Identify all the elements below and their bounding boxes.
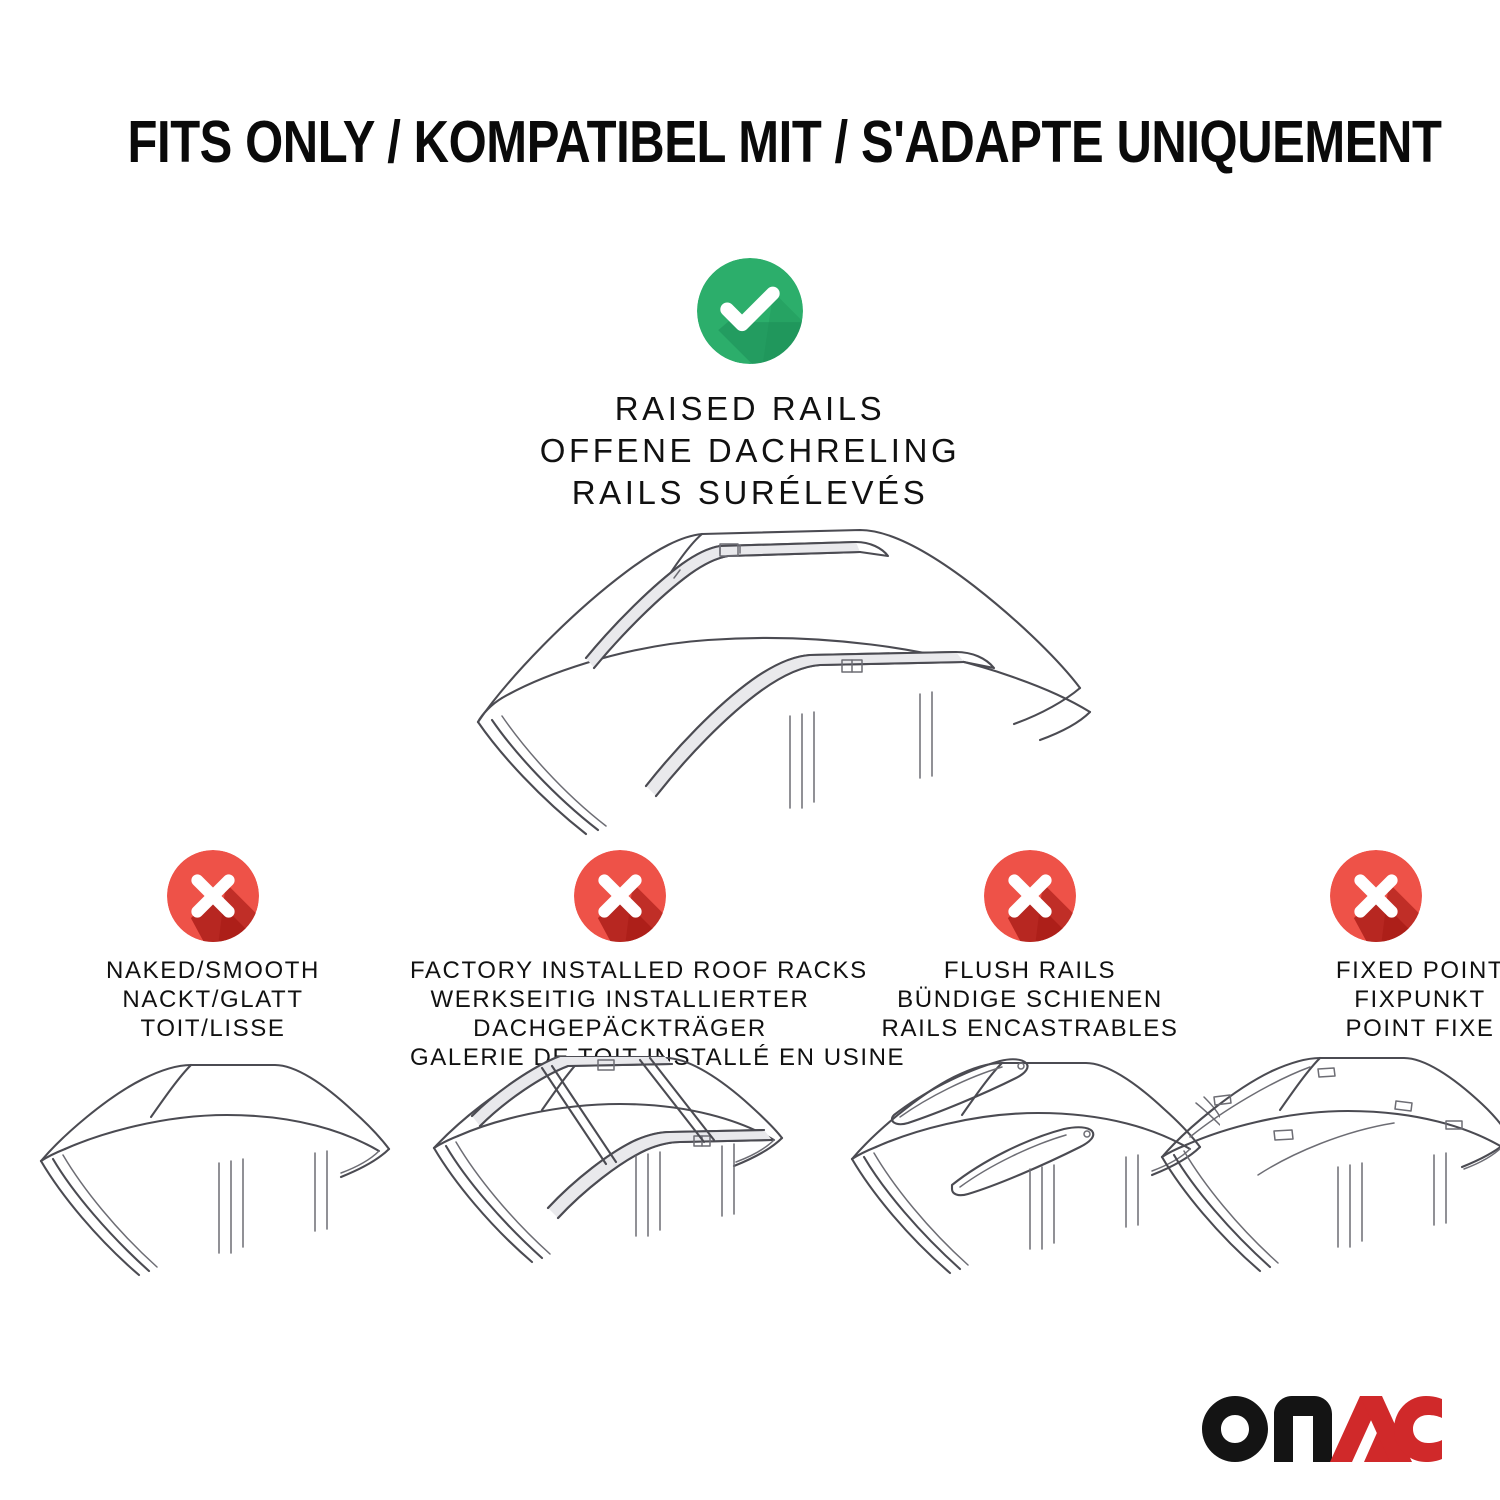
logo-letter-m (1274, 1396, 1332, 1462)
car-roof-factory-roof-rack-illustration (410, 1056, 830, 1306)
incompatible-4-line-1: FIXED POINT (1330, 956, 1500, 985)
incompatible-2-line-3: DACHGEPÄCKTRÄGER (410, 1014, 830, 1043)
incompatible-2-line-1: FACTORY INSTALLED ROOF RACKS (410, 956, 830, 985)
compatible-section: RAISED RAILS OFFENE DACHRELING RAILS SUR… (0, 258, 1500, 514)
incompatible-item-factory-roof-rack: FACTORY INSTALLED ROOF RACKS WERKSEITIG … (410, 850, 830, 1311)
incompatible-caption: NAKED/SMOOTH NACKT/GLATT TOIT/LISSE (23, 956, 403, 1043)
cross-circle-icon (1330, 850, 1422, 942)
page-title: FITS ONLY / KOMPATIBEL MIT / S'ADAPTE UN… (128, 108, 1373, 176)
incompatible-caption: FACTORY INSTALLED ROOF RACKS WERKSEITIG … (410, 956, 830, 1072)
check-circle-icon (697, 258, 803, 364)
incompatible-1-line-3: TOIT/LISSE (23, 1014, 403, 1043)
incompatible-caption: FIXED POINT FIXPUNKT POINT FIXE (1330, 956, 1500, 1043)
incompatible-4-line-3: POINT FIXE (1330, 1014, 1500, 1043)
omac-logo-mark (1202, 1396, 1442, 1462)
car-roof-naked-smooth-illustration (23, 1053, 403, 1303)
omac-logo (1202, 1396, 1442, 1462)
car-roof-raised-rails-illustration (390, 508, 1110, 838)
incompatible-1-line-2: NACKT/GLATT (23, 985, 403, 1014)
incompatible-item-naked-smooth: NAKED/SMOOTH NACKT/GLATT TOIT/LISSE (23, 850, 403, 1308)
car-roof-fixed-point-illustration (1150, 1053, 1500, 1303)
cross-circle-icon (167, 850, 259, 942)
incompatible-1-line-1: NAKED/SMOOTH (23, 956, 403, 985)
compatibility-infographic: FITS ONLY / KOMPATIBEL MIT / S'ADAPTE UN… (0, 0, 1500, 1500)
cross-circle-icon (984, 850, 1076, 942)
compatible-line-1: RAISED RAILS (0, 388, 1500, 430)
incompatible-section: NAKED/SMOOTH NACKT/GLATT TOIT/LISSE (0, 850, 1500, 1450)
logo-letter-o (1202, 1396, 1268, 1462)
compatible-caption: RAISED RAILS OFFENE DACHRELING RAILS SUR… (0, 388, 1500, 514)
incompatible-item-fixed-point: FIXED POINT FIXPUNKT POINT FIXE (1150, 850, 1500, 1308)
cross-circle-icon (574, 850, 666, 942)
incompatible-2-line-2: WERKSEITIG INSTALLIERTER (410, 985, 830, 1014)
compatible-line-2: OFFENE DACHRELING (0, 430, 1500, 472)
incompatible-4-line-2: FIXPUNKT (1330, 985, 1500, 1014)
